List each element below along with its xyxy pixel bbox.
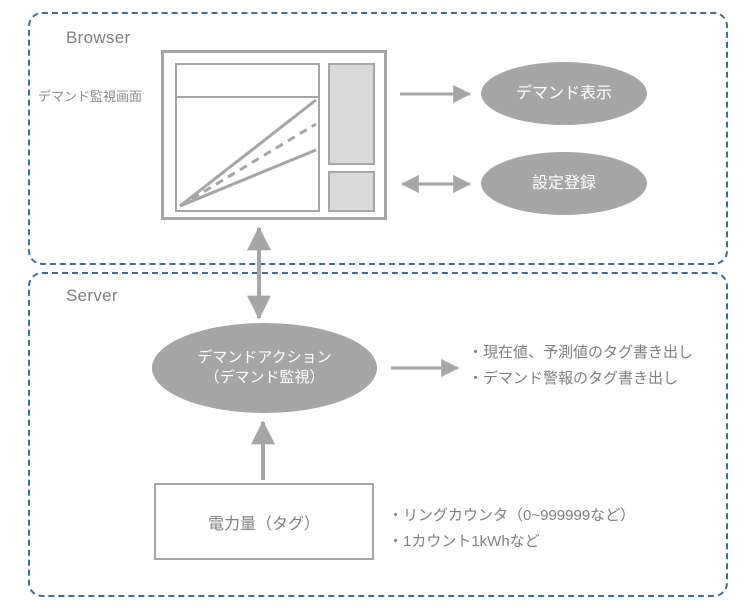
mockup-main-area: [175, 63, 320, 212]
node-power-amount-label: 電力量（タグ）: [208, 510, 320, 534]
caption-demand-monitor-screen: デマンド監視画面: [38, 86, 142, 105]
note-power-amount-line-1: ・リングカウンタ（0~999999など）: [388, 503, 635, 529]
node-demand-display-label: デマンド表示: [516, 83, 612, 105]
node-demand-action-label-line2: （デマンド監視）: [204, 368, 324, 388]
mockup-demand-chart-icon: [177, 96, 318, 210]
note-demand-action: ・現在値、予測値のタグ書き出し ・デマンド警報のタグ書き出し: [468, 340, 693, 393]
note-demand-action-line-2: ・デマンド警報のタグ書き出し: [468, 366, 693, 392]
node-power-amount: 電力量（タグ）: [154, 483, 374, 560]
node-setting-registration: 設定登録: [481, 152, 647, 215]
browser-window-mockup: [161, 50, 387, 220]
node-demand-display: デマンド表示: [481, 62, 647, 125]
note-power-amount-line-2: ・1カウント1kWhなど: [388, 529, 635, 555]
node-demand-action-label-line1: デマンドアクション: [197, 348, 331, 368]
note-power-amount: ・リングカウンタ（0~999999など） ・1カウント1kWhなど: [388, 503, 635, 556]
panel-browser-title: Browser: [66, 28, 130, 48]
node-setting-registration-label: 設定登録: [532, 173, 596, 195]
node-demand-action: デマンドアクション （デマンド監視）: [152, 323, 377, 413]
mockup-side-panel-top: [328, 63, 375, 165]
panel-server-title: Server: [66, 286, 118, 306]
note-demand-action-line-1: ・現在値、予測値のタグ書き出し: [468, 340, 693, 366]
mockup-side-panel-bottom: [328, 171, 375, 212]
